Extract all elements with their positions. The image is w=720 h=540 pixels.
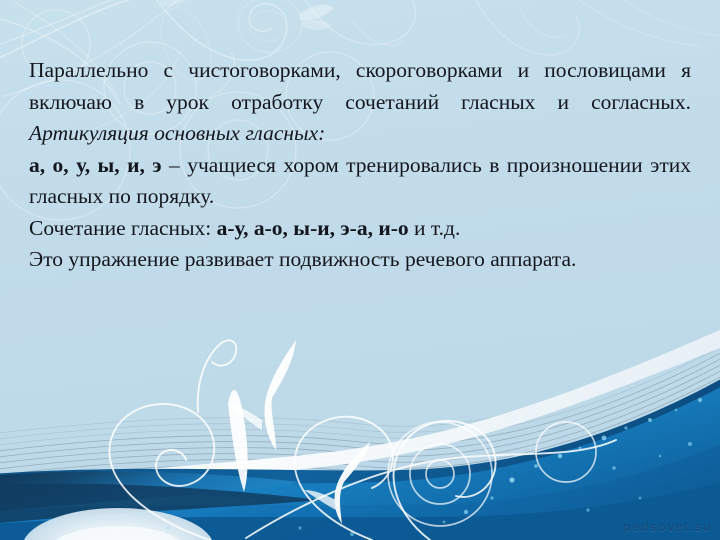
paragraph-4-lead: Сочетание гласных: <box>29 216 217 240</box>
paragraph-1-text: Параллельно с чистоговорками, скороговор… <box>29 58 691 114</box>
slide-canvas: Параллельно с чистоговорками, скороговор… <box>0 0 720 540</box>
paragraph-3-bold-vowels: а, о, у, ы, и, э <box>29 153 162 177</box>
watermark-pedsovet: pedsovet.su <box>623 519 712 534</box>
paragraph-1: Параллельно с чистоговорками, скороговор… <box>29 55 691 118</box>
paragraph-2-text-italic: Артикуляция основных гласных: <box>29 121 325 145</box>
paragraph-4: Сочетание гласных: а-у, а-о, ы-и, э-а, и… <box>29 213 691 245</box>
paragraph-3: а, о, у, ы, и, э – учащиеся хором тренир… <box>29 150 691 213</box>
paragraph-4-bold-pairs: а-у, а-о, ы-и, э-а, и-о <box>217 216 409 240</box>
paragraph-5-text: Это упражнение развивает подвижность реч… <box>29 247 576 271</box>
paragraph-2: Артикуляция основных гласных: <box>29 118 691 150</box>
paragraph-5: Это упражнение развивает подвижность реч… <box>29 244 691 276</box>
paragraph-4-tail: и т.д. <box>409 216 461 240</box>
slide-text-body: Параллельно с чистоговорками, скороговор… <box>29 55 691 276</box>
